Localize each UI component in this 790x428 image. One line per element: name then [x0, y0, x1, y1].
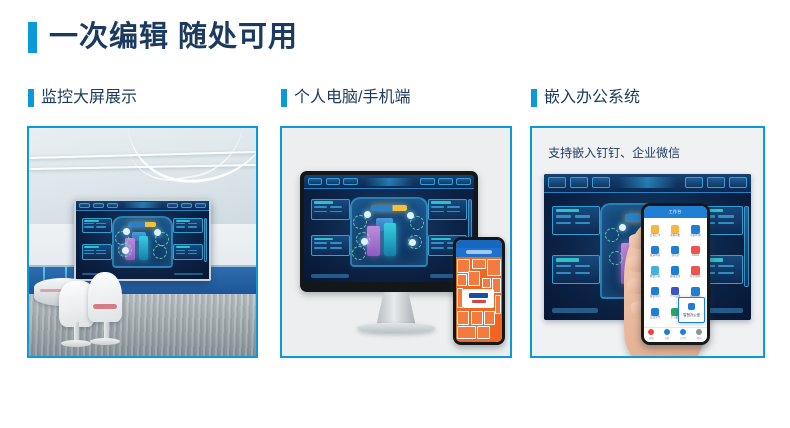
section-label: 嵌入办公系统: [544, 90, 640, 106]
workbench-header: 工作台: [644, 206, 707, 218]
phone-map-view: [456, 257, 502, 342]
dashboard-title-banner: [123, 202, 161, 208]
app-label: 考勤查询: [690, 235, 700, 238]
dashboard-metric-card: [428, 199, 467, 220]
dashboard-topbar: [76, 201, 208, 211]
tab-icon: [680, 329, 686, 335]
app-tile[interactable]: 数据分析: [646, 263, 665, 283]
dashboard-tab: [308, 178, 323, 185]
tab-icon: [696, 329, 702, 335]
app-tile[interactable]: 日程打卡: [646, 221, 665, 241]
dashboard-tab: [438, 178, 453, 185]
smart-office-icon: [688, 303, 695, 310]
video-wall-screen: [74, 199, 210, 281]
dashboard-tab: [167, 203, 178, 208]
section-accent-bar: [281, 89, 287, 107]
tab-item[interactable]: 我的: [696, 329, 702, 340]
section-accent-bar: [28, 89, 34, 107]
factory-floorplan: [350, 197, 428, 268]
dashboard-tab: [343, 178, 358, 185]
gear-icon: [153, 245, 167, 259]
dashboard-title-banner: [365, 178, 414, 186]
app-icon: [691, 246, 699, 254]
chair-base: [90, 338, 120, 345]
app-tile[interactable]: 任务协同: [686, 263, 705, 283]
phone-screen: 工作台 日程打卡请假审批考勤查询报销申请通讯录TODO数据分析视频会议任务协同报…: [644, 206, 707, 341]
dashboard-metric-card: [552, 255, 600, 284]
scada-dashboard: [304, 175, 474, 282]
monitor-stand-base: [357, 323, 435, 333]
section-label: 监控大屏展示: [41, 90, 137, 106]
section-label: 个人电脑/手机端: [294, 90, 410, 106]
dashboard-metric-card: [552, 206, 600, 235]
map-zone: [495, 295, 501, 314]
panel-caption: 支持嵌入钉钉、企业微信: [548, 144, 680, 161]
app-tile[interactable]: 视频会议: [666, 263, 685, 283]
section-accent-bar: [531, 89, 537, 107]
monitor-stand-neck: [377, 292, 416, 324]
footer-strip: [552, 308, 598, 313]
dashboard-metric-card: [82, 244, 112, 260]
page-title: 一次编辑 随处可用: [28, 22, 298, 53]
dashboard-tab: [93, 203, 104, 208]
scada-dashboard: [76, 201, 208, 279]
app-highlight-popup[interactable]: 智慧办公室: [678, 297, 705, 323]
desktop-monitor: [300, 171, 478, 292]
app-icon: [691, 266, 699, 274]
mobile-phone: [453, 237, 505, 344]
app-label: 报表中心: [650, 296, 660, 299]
app-tile[interactable]: 云盘文件: [646, 304, 665, 324]
dashboard-metric-card: [82, 218, 112, 234]
section-header-monitor-wall: 监控大屏展示: [28, 89, 137, 107]
dashboard-tab: [326, 178, 341, 185]
app-icon: [651, 225, 659, 233]
tab-label: 消息: [649, 336, 654, 340]
machine-unit: [384, 223, 396, 255]
sensor-node: [154, 229, 161, 236]
logo-mark: [469, 293, 488, 298]
tab-label: 工作台: [679, 336, 686, 340]
app-icon: [651, 246, 659, 254]
dashboard-tab: [729, 177, 747, 187]
dashboard-tab: [570, 177, 588, 187]
mobile-phone: 工作台 日程打卡请假审批考勤查询报销申请通讯录TODO数据分析视频会议任务协同报…: [641, 203, 710, 344]
search-input[interactable]: [466, 250, 492, 254]
sensor-node: [619, 224, 626, 231]
status-bar-highlight: [371, 205, 407, 211]
map-zone: [484, 311, 494, 325]
tab-icon: [648, 329, 654, 335]
popup-label: 智慧办公室: [683, 312, 700, 317]
app-label: 视频会议: [670, 276, 680, 279]
factory-floorplan: [112, 216, 173, 268]
footer-strip: [311, 274, 349, 278]
dashboard-tab: [707, 177, 725, 187]
app-label: TODO: [692, 255, 699, 258]
gear-icon: [352, 246, 366, 260]
map-zone: [457, 311, 469, 325]
dashboard-tab: [181, 203, 192, 208]
dashboard-metric-card: [311, 235, 350, 256]
dashboard-metric-card: [173, 218, 203, 234]
tab-item[interactable]: 工作台: [679, 329, 686, 340]
status-bar-highlight: [128, 222, 156, 226]
dashboard-tab: [592, 177, 610, 187]
panel-control-room: [27, 126, 258, 358]
dashboard-tab: [548, 177, 566, 187]
desktop-phone-photo: [282, 128, 510, 356]
app-tile[interactable]: 报表中心: [646, 283, 665, 303]
app-icon: [651, 266, 659, 274]
app-icon: [671, 225, 679, 233]
tab-label: 文档: [664, 336, 669, 340]
dashboard-topbar: [304, 175, 474, 189]
dashboard-metric-card: [173, 244, 203, 260]
dashboard-tab: [420, 178, 435, 185]
app-icon: [671, 266, 679, 274]
app-tile[interactable]: 请假审批: [666, 221, 685, 241]
app-tile[interactable]: 报销申请: [646, 242, 665, 262]
map-zone: [472, 259, 486, 269]
section-header-pc-mobile: 个人电脑/手机端: [281, 89, 410, 107]
dashboard-topbar: [544, 174, 752, 193]
map-zone: [471, 311, 483, 325]
phone-search-bar: [456, 248, 502, 257]
app-tile[interactable]: 考勤查询: [686, 221, 705, 241]
app-tile[interactable]: TODO: [686, 242, 705, 262]
phone-screen: [456, 240, 502, 341]
panel-embedded-office: 支持嵌入钉钉、企业微信: [530, 126, 765, 358]
map-zone: [457, 274, 466, 286]
dashboard-side-gauge: [744, 206, 749, 288]
dashboard-metric-card: [311, 199, 350, 220]
app-label: 报销申请: [650, 255, 660, 258]
tab-icon: [664, 329, 670, 335]
sensor-node: [123, 228, 130, 235]
app-icon: [691, 225, 699, 233]
chair: [88, 272, 122, 322]
panel-pc-mobile: [280, 126, 512, 358]
tab-item[interactable]: 消息: [648, 329, 654, 340]
control-room-photo: [29, 128, 256, 356]
app-label: 数据分析: [650, 276, 660, 279]
map-zone: [468, 271, 480, 286]
page-title-text: 一次编辑 随处可用: [49, 23, 298, 52]
embedded-office-photo: 支持嵌入钉钉、企业微信: [532, 128, 763, 356]
phone-tab-bar: 消息文档工作台我的: [644, 327, 707, 342]
promo-page: 一次编辑 随处可用 监控大屏展示 个人电脑/手机端 嵌入办公系统: [0, 0, 790, 428]
dashboard-tab: [456, 178, 471, 185]
app-icon: [691, 287, 699, 295]
dashboard-tab: [685, 177, 703, 187]
app-icon: [651, 308, 659, 316]
dashboard-tab: [107, 203, 118, 208]
sensor-node: [409, 239, 416, 246]
dashboard-tab: [79, 203, 90, 208]
map-zone: [482, 278, 491, 288]
logo-subtitle: [472, 300, 486, 303]
sensor-node: [364, 211, 371, 218]
app-icon: [671, 246, 679, 254]
company-logo-card: [463, 289, 494, 308]
sensor-node: [122, 247, 129, 254]
map-zone: [457, 326, 476, 339]
dashboard-side-gauge: [204, 218, 207, 262]
app-label: 通讯录: [671, 255, 679, 258]
map-zone: [477, 326, 490, 339]
sensor-node: [361, 238, 368, 245]
dashboard-tab: [195, 203, 206, 208]
footer-strip: [174, 273, 203, 276]
monitor-screen: [304, 175, 474, 282]
section-header-embedded-office: 嵌入办公系统: [531, 89, 640, 107]
tab-label: 我的: [697, 336, 702, 340]
dashboard-footer: [304, 271, 474, 280]
app-label: 任务协同: [690, 276, 700, 279]
app-label: 日程打卡: [650, 235, 660, 238]
app-label: 云盘文件: [650, 317, 660, 320]
phone-status-bar: [456, 240, 502, 247]
dashboard-title-banner: [618, 177, 678, 188]
app-label: 请假审批: [670, 235, 680, 238]
title-accent-bar: [28, 22, 37, 53]
tab-item[interactable]: 文档: [664, 329, 670, 340]
map-zone: [457, 288, 463, 308]
chair-base: [61, 340, 91, 347]
machine-unit: [139, 236, 148, 260]
map-zone: [487, 259, 501, 276]
app-tile[interactable]: 通讯录: [666, 242, 685, 262]
